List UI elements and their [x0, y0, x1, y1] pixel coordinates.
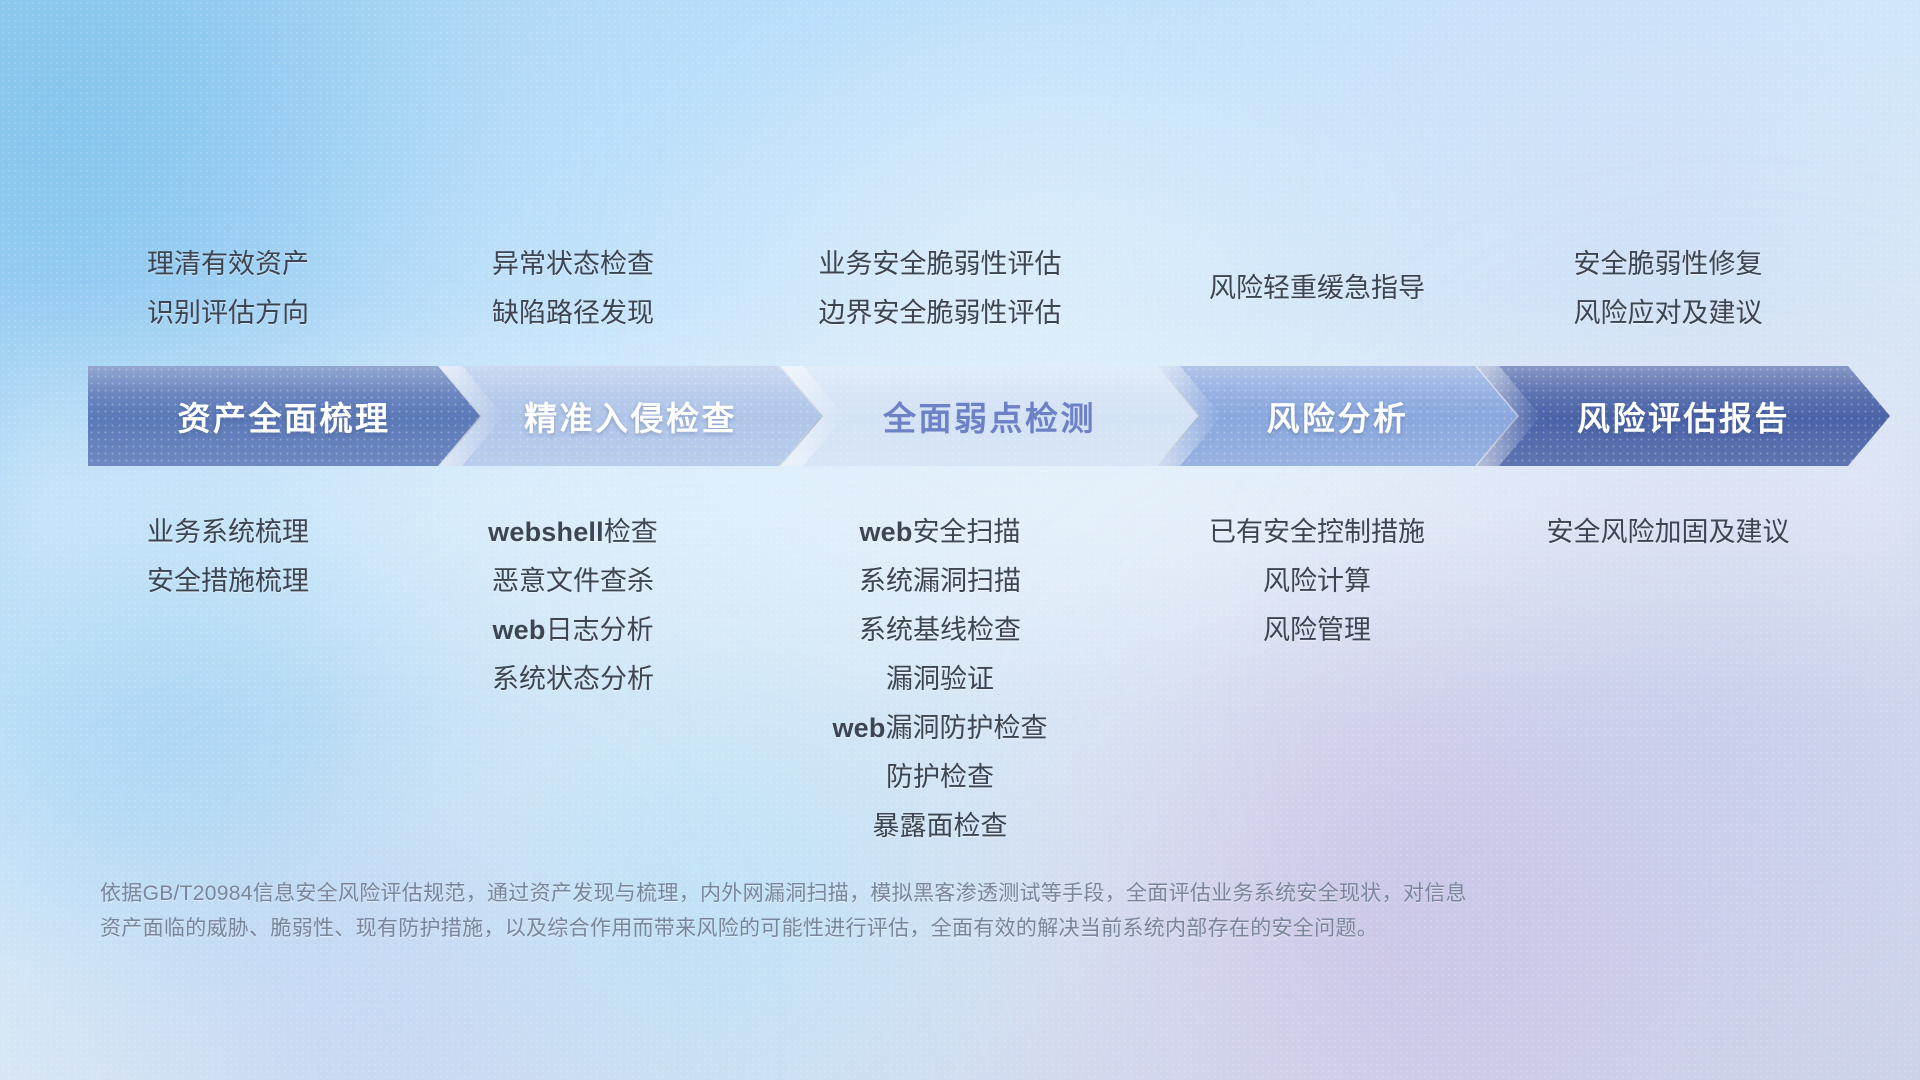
stage-arrow-risk-analysis[interactable]: 风险分析 [1158, 366, 1517, 466]
bottom-label-text: 暴露面检查 [873, 811, 1008, 841]
bottom-label-item: webshell检查 [383, 508, 763, 557]
bottom-labels-weakness-detection: web安全扫描系统漏洞扫描系统基线检查漏洞验证web漏洞防护检查防护检查暴露面检… [750, 508, 1130, 851]
bottom-label-text: 系统漏洞扫描 [859, 566, 1021, 596]
bottom-label-item: 系统漏洞扫描 [750, 557, 1130, 606]
bottom-label-item: 已有安全控制措施 [1127, 508, 1507, 557]
bottom-label-text: 系统状态分析 [492, 664, 654, 694]
stage-arrow-band: 资产全面梳理精准入侵检查全面弱点检测风险分析风险评估报告 [88, 366, 1848, 466]
stage-arrow-label: 精准入侵检查 [524, 392, 737, 440]
top-label-item: 风险轻重缓急指导 [1127, 264, 1507, 313]
top-labels-risk-report: 安全脆弱性修复风险应对及建议 [1478, 240, 1858, 338]
top-label-item: 异常状态检查 [383, 240, 763, 289]
top-labels-risk-analysis: 风险轻重缓急指导 [1127, 264, 1507, 313]
bottom-label-text: 安全扫描 [913, 517, 1021, 547]
bottom-label-text: 漏洞防护检查 [886, 713, 1048, 743]
bottom-label-item: 系统基线检查 [750, 606, 1130, 655]
bottom-label-item: web漏洞防护检查 [750, 704, 1130, 753]
process-diagram: 理清有效资产识别评估方向异常状态检查缺陷路径发现业务安全脆弱性评估边界安全脆弱性… [0, 0, 1920, 1080]
stage-arrow-asset-inventory[interactable]: 资产全面梳理 [88, 366, 480, 466]
bottom-labels-intrusion-check: webshell检查恶意文件查杀web日志分析系统状态分析 [383, 508, 763, 704]
bottom-label-text: 恶意文件查杀 [492, 566, 654, 596]
bottom-labels-risk-analysis: 已有安全控制措施风险计算风险管理 [1127, 508, 1507, 655]
bottom-label-item: 安全风险加固及建议 [1478, 508, 1858, 557]
bottom-label-text: 安全风险加固及建议 [1547, 517, 1790, 547]
stage-arrow-label: 风险分析 [1267, 392, 1409, 440]
bottom-label-text: 漏洞验证 [886, 664, 994, 694]
top-label-item: 理清有效资产 [38, 240, 418, 289]
bottom-label-item: 安全措施梳理 [38, 557, 418, 606]
top-label-item: 业务安全脆弱性评估 [750, 240, 1130, 289]
bottom-label-item: 漏洞验证 [750, 655, 1130, 704]
bottom-label-text: 业务系统梳理 [147, 517, 309, 547]
bottom-label-text: 系统基线检查 [859, 615, 1021, 645]
footer-line-1: 依据GB/T20984信息安全风险评估规范，通过资产发现与梳理，内外网漏洞扫描，… [100, 876, 1640, 911]
bottom-labels-asset-inventory: 业务系统梳理安全措施梳理 [38, 508, 418, 606]
bottom-label-text: 检查 [604, 517, 658, 547]
bottom-label-item: 恶意文件查杀 [383, 557, 763, 606]
top-label-item: 风险应对及建议 [1478, 289, 1858, 338]
bottom-label-text: 安全措施梳理 [147, 566, 309, 596]
top-label-item: 安全脆弱性修复 [1478, 240, 1858, 289]
description-footer: 依据GB/T20984信息安全风险评估规范，通过资产发现与梳理，内外网漏洞扫描，… [100, 876, 1640, 946]
bottom-label-item: web安全扫描 [750, 508, 1130, 557]
stage-arrow-intrusion-check[interactable]: 精准入侵检查 [440, 366, 821, 466]
bottom-label-latin: web [492, 615, 545, 645]
bottom-label-text: 风险管理 [1263, 615, 1371, 645]
bottom-label-latin: web [832, 713, 885, 743]
top-label-item: 缺陷路径发现 [383, 289, 763, 338]
bottom-label-text: 防护检查 [886, 762, 994, 792]
bottom-label-latin: web [859, 517, 912, 547]
bottom-label-item: 风险计算 [1127, 557, 1507, 606]
bottom-label-item: 防护检查 [750, 753, 1130, 802]
bottom-labels-risk-report: 安全风险加固及建议 [1478, 508, 1858, 557]
stage-arrow-label: 资产全面梳理 [178, 392, 391, 440]
bottom-label-item: 暴露面检查 [750, 802, 1130, 851]
bottom-label-item: 业务系统梳理 [38, 508, 418, 557]
bottom-label-text: 已有安全控制措施 [1209, 517, 1425, 547]
stage-arrow-weakness-detection[interactable]: 全面弱点检测 [781, 366, 1198, 466]
bottom-label-item: web日志分析 [383, 606, 763, 655]
top-labels-asset-inventory: 理清有效资产识别评估方向 [38, 240, 418, 338]
bottom-label-item: 系统状态分析 [383, 655, 763, 704]
top-labels-intrusion-check: 异常状态检查缺陷路径发现 [383, 240, 763, 338]
footer-line-2: 资产面临的威胁、脆弱性、现有防护措施，以及综合作用而带来风险的可能性进行评估，全… [100, 911, 1640, 946]
bottom-label-text: 风险计算 [1263, 566, 1371, 596]
top-label-item: 识别评估方向 [38, 289, 418, 338]
top-labels-weakness-detection: 业务安全脆弱性评估边界安全脆弱性评估 [750, 240, 1130, 338]
bottom-label-latin: webshell [488, 517, 604, 547]
bottom-label-item: 风险管理 [1127, 606, 1507, 655]
stage-arrow-label: 全面弱点检测 [883, 392, 1096, 440]
stage-arrow-risk-report[interactable]: 风险评估报告 [1477, 366, 1890, 466]
stage-arrow-label: 风险评估报告 [1577, 392, 1790, 440]
top-label-item: 边界安全脆弱性评估 [750, 289, 1130, 338]
bottom-label-text: 日志分析 [546, 615, 654, 645]
